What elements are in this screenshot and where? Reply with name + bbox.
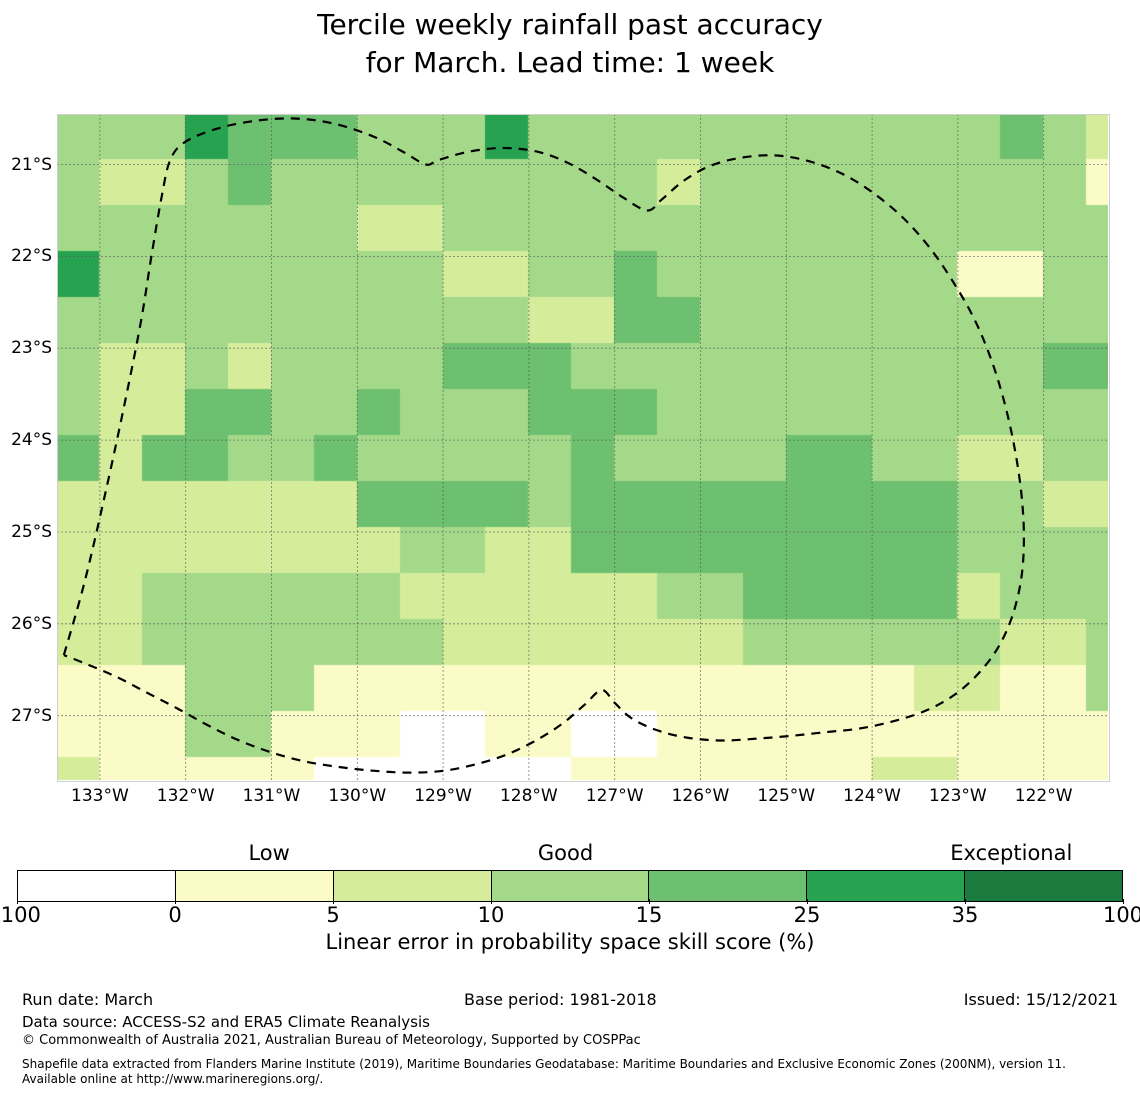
x-tick-label: 126°W	[655, 786, 745, 806]
copyright-text: © Commonwealth of Australia 2021, Austra…	[22, 1033, 641, 1049]
base-period-text: Base period: 1981-2018	[464, 990, 657, 1009]
colorbar-segment	[333, 871, 491, 901]
colorbar-segment	[964, 871, 1122, 901]
colorbar-category-labels: LowGoodExceptional	[0, 841, 1140, 867]
colorbar-category-label: Good	[446, 841, 686, 865]
map-heatmap-plot	[57, 114, 1108, 780]
colorbar-category-label: Low	[149, 841, 389, 865]
eez-boundary-line	[57, 114, 1108, 780]
y-tick-label: 26°S	[0, 616, 52, 633]
y-tick-label: 21°S	[0, 157, 52, 174]
colorbar-segment	[806, 871, 964, 901]
colorbar-segment	[648, 871, 806, 901]
x-tick-label: 133°W	[55, 786, 145, 806]
colorbar	[17, 870, 1123, 902]
y-tick-label: 22°S	[0, 248, 52, 265]
y-tick-label: 23°S	[0, 340, 52, 357]
colorbar-tick-label: 35	[905, 903, 1025, 927]
colorbar-tick-labels: -1000510152535100	[0, 903, 1140, 929]
colorbar-tick-label: 100	[1063, 903, 1140, 927]
x-tick-label: 122°W	[999, 786, 1089, 806]
colorbar-axis-label: Linear error in probability space skill …	[0, 930, 1140, 955]
eez-dashed-path	[64, 118, 1024, 772]
colorbar-segment	[18, 871, 175, 901]
colorbar-tick-label: 5	[273, 903, 393, 927]
x-tick-label: 129°W	[398, 786, 488, 806]
issued-date-text: Issued: 15/12/2021	[964, 990, 1118, 1009]
x-tick-label: 130°W	[312, 786, 402, 806]
x-tick-label: 131°W	[226, 786, 316, 806]
colorbar-tick-label: 0	[115, 903, 235, 927]
y-tick-label: 25°S	[0, 524, 52, 541]
page-title: Tercile weekly rainfall past accuracy fo…	[0, 6, 1140, 82]
x-tick-label: 123°W	[913, 786, 1003, 806]
x-tick-label: 128°W	[484, 786, 574, 806]
x-tick-label: 124°W	[827, 786, 917, 806]
x-tick-label: 125°W	[741, 786, 831, 806]
x-tick-label: 132°W	[141, 786, 231, 806]
x-tick-label: 127°W	[570, 786, 660, 806]
y-tick-label: 27°S	[0, 708, 52, 725]
colorbar-category-label: Exceptional	[891, 841, 1131, 865]
colorbar-segment	[175, 871, 333, 901]
colorbar-tick-label: 10	[431, 903, 551, 927]
shapefile-note-text: Shapefile data extracted from Flanders M…	[22, 1057, 1122, 1087]
colorbar-tick-label: 15	[589, 903, 709, 927]
data-source-text: Data source: ACCESS-S2 and ERA5 Climate …	[22, 1013, 430, 1031]
colorbar-segment	[491, 871, 649, 901]
colorbar-tick-label: -100	[0, 903, 77, 927]
colorbar-tick-label: 25	[747, 903, 867, 927]
run-date-text: Run date: March	[22, 990, 153, 1009]
y-tick-label: 24°S	[0, 432, 52, 449]
